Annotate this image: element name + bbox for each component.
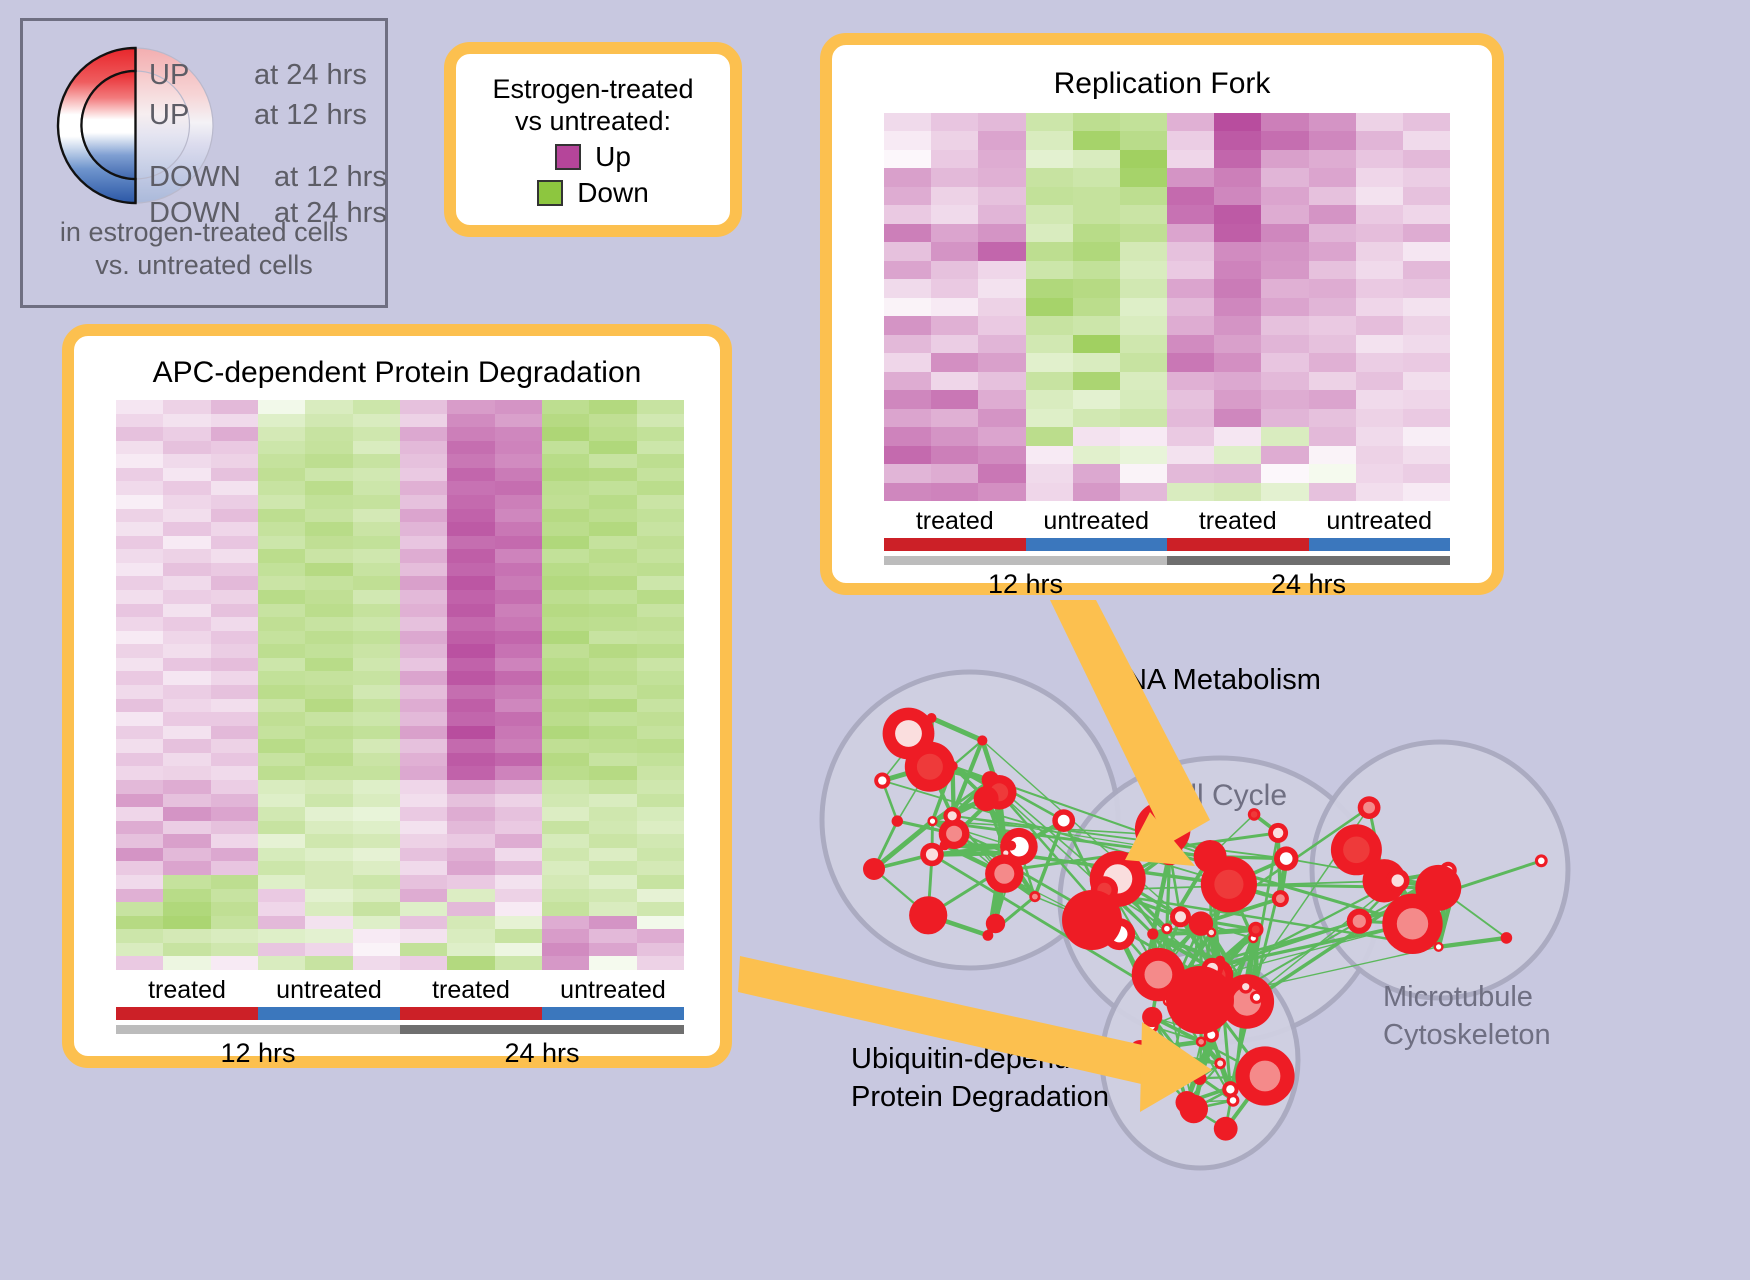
heatmap-cell (1120, 242, 1167, 260)
figure-canvas: UPat 24 hrs UPat 12 hrs DOWNat 12 hrs DO… (0, 0, 1750, 1279)
heatmap-cell (589, 821, 636, 835)
heatmap-cell (495, 712, 542, 726)
network-node[interactable] (1168, 1053, 1180, 1065)
heatmap-cell (637, 753, 684, 767)
network-node[interactable] (985, 855, 1023, 893)
network-node[interactable] (863, 858, 885, 880)
heatmap-cell (211, 875, 258, 889)
heatmap-cell (211, 509, 258, 523)
heatmap-cell (258, 916, 305, 930)
heatmap-cell (116, 604, 163, 618)
heatmap-cell (495, 943, 542, 957)
network-node[interactable] (1161, 923, 1172, 934)
heatmap-cell (116, 699, 163, 713)
heatmap-cell (305, 699, 352, 713)
heatmap-cell (1073, 483, 1120, 501)
axis-time-seg-0 (116, 1025, 400, 1034)
heatmap-cell (211, 427, 258, 441)
heatmap-cell (637, 454, 684, 468)
heatmap-cell (495, 929, 542, 943)
heatmap-cell (637, 929, 684, 943)
heatmap-cell (495, 753, 542, 767)
heatmap-cell (305, 631, 352, 645)
heatmap-cell (447, 916, 494, 930)
heatmap-cell (447, 821, 494, 835)
network-node[interactable] (1272, 890, 1289, 907)
heatmap-cell (1356, 279, 1403, 297)
heatmap-cell (447, 943, 494, 957)
heatmap-cell (211, 617, 258, 631)
network-node[interactable] (1239, 980, 1253, 994)
heatmap-cell (978, 113, 1025, 131)
heatmap-cell (1167, 187, 1214, 205)
heatmap-cell (258, 563, 305, 577)
heatmap-cell (211, 495, 258, 509)
heatmap-cell (305, 685, 352, 699)
heatmap-cell (258, 658, 305, 672)
heatmap-cell (163, 576, 210, 590)
heatmap-cell (163, 563, 210, 577)
heatmap-cell (884, 242, 931, 260)
heatmap-cell (1356, 335, 1403, 353)
network-node[interactable] (940, 840, 950, 850)
heatmap-cell (589, 875, 636, 889)
network-node[interactable] (948, 761, 958, 771)
heatmap-cell (1167, 390, 1214, 408)
heatmap-cell (163, 400, 210, 414)
network-node[interactable] (974, 786, 999, 811)
heatmap-cell (1356, 242, 1403, 260)
heatmap-cell (495, 889, 542, 903)
heatmap-cell (542, 753, 589, 767)
heatmap-cell (258, 875, 305, 889)
heatmap-cell (353, 481, 400, 495)
heatmap-cell (978, 205, 1025, 223)
network-node[interactable] (1006, 841, 1016, 851)
network-node[interactable] (874, 773, 890, 789)
network-node[interactable] (1214, 1117, 1238, 1141)
network-node[interactable] (1250, 991, 1263, 1004)
heatmap-cell (637, 889, 684, 903)
legend-swatch-up-icon (555, 144, 581, 170)
heatmap-cell (447, 536, 494, 550)
heatmap-cell (589, 699, 636, 713)
axis-treatment-bar (884, 538, 1450, 551)
axis-group-2: treated (400, 976, 542, 1005)
network-node[interactable] (1347, 909, 1372, 934)
heatmap-cell (1073, 316, 1120, 334)
axis-time-seg-0 (884, 556, 1167, 565)
legend-item-up: Up (555, 141, 631, 173)
heatmap-cell (258, 481, 305, 495)
heatmap-cell (1356, 131, 1403, 149)
network-node[interactable] (1062, 890, 1122, 950)
network-node[interactable] (1194, 840, 1227, 873)
axis-group-1: untreated (1026, 507, 1168, 536)
heatmap-cell (495, 549, 542, 563)
heatmap-cell (116, 685, 163, 699)
heatmap-cell (1073, 205, 1120, 223)
heatmap-cell (542, 631, 589, 645)
heatmap-cell (637, 658, 684, 672)
heatmap-cell (1073, 242, 1120, 260)
heatmap-cell (116, 780, 163, 794)
heatmap-cell (1214, 168, 1261, 186)
heatmap-cell (116, 807, 163, 821)
heatmap-cell (1120, 335, 1167, 353)
heatmap-cell (400, 454, 447, 468)
network-node[interactable] (1415, 865, 1461, 911)
heatmap-cell (305, 902, 352, 916)
network-node[interactable] (986, 914, 1005, 933)
heatmap-cell (495, 658, 542, 672)
heatmap-cell (884, 261, 931, 279)
heatmap-cell (447, 604, 494, 618)
network-node[interactable] (1193, 1072, 1206, 1085)
axis-treatment-bar (116, 1007, 684, 1020)
network-node[interactable] (1029, 891, 1040, 902)
heatmap-cell (931, 316, 978, 334)
network-node[interactable] (1206, 927, 1216, 937)
heatmap-cell (542, 929, 589, 943)
heatmap-cell (1214, 372, 1261, 390)
heatmap-cell (116, 929, 163, 943)
heatmap-cell (542, 400, 589, 414)
heatmap-cell (258, 400, 305, 414)
heatmap-cell (884, 168, 931, 186)
heatmap-cell (258, 766, 305, 780)
heatmap-cell (1261, 335, 1308, 353)
network-node[interactable] (1274, 846, 1298, 870)
heatmap-cell (163, 549, 210, 563)
heatmap-cell (542, 861, 589, 875)
heatmap-cell (353, 889, 400, 903)
network-node[interactable] (1147, 928, 1158, 939)
network-node[interactable] (1215, 956, 1225, 966)
heatmap-cell (353, 807, 400, 821)
heatmap-cell (542, 644, 589, 658)
heatmap-cell (495, 604, 542, 618)
axis-time-1: 24 hrs (1167, 569, 1450, 600)
heatmap-cell (400, 604, 447, 618)
network-node[interactable] (1166, 966, 1234, 1034)
heatmap-cell (211, 658, 258, 672)
heatmap-cell (353, 685, 400, 699)
heatmap-cell (305, 563, 352, 577)
heatmap-cell (258, 644, 305, 658)
heatmap-cell (637, 875, 684, 889)
heatmap-cell (1403, 279, 1450, 297)
heatmap-cell (495, 400, 542, 414)
network-node[interactable] (1176, 1091, 1199, 1114)
heatmap-cell (542, 889, 589, 903)
heatmap-cell (1167, 483, 1214, 501)
heatmap-cell (258, 604, 305, 618)
heatmap-cell (1120, 316, 1167, 334)
heatmap-cell (978, 335, 1025, 353)
heatmap-cell (353, 400, 400, 414)
network-node[interactable] (1142, 1007, 1162, 1027)
heatmap-cell (353, 658, 400, 672)
heatmap-cell (495, 414, 542, 428)
network-node[interactable] (892, 815, 903, 826)
heatmap-cell (1309, 446, 1356, 464)
heatmap-cell (637, 943, 684, 957)
axis-bar-seg-3 (542, 1007, 684, 1020)
axis-time-bar (884, 556, 1450, 565)
heatmap-cell (1026, 390, 1073, 408)
heatmap-cell (542, 943, 589, 957)
heatmap-cell (163, 929, 210, 943)
heatmap-cell (589, 563, 636, 577)
heatmap-cell (637, 400, 684, 414)
legend-item-down: Down (537, 177, 649, 209)
network-node[interactable] (1434, 942, 1444, 952)
heatmap-cell (495, 495, 542, 509)
axis-time-names: 12 hrs 24 hrs (884, 569, 1450, 600)
heatmap-cell (447, 631, 494, 645)
heatmap-cell (542, 794, 589, 808)
heatmap-cell (1403, 316, 1450, 334)
heatmap-cell (163, 454, 210, 468)
heatmap-cell (1073, 446, 1120, 464)
heatmap-cell (353, 821, 400, 835)
heatmap-cell (931, 224, 978, 242)
heatmap-cell (353, 468, 400, 482)
heatmap-cell (542, 536, 589, 550)
heatmap-cell (1073, 261, 1120, 279)
heatmap-cell (637, 563, 684, 577)
heatmap-cell (1167, 113, 1214, 131)
heatmap-cell (1120, 464, 1167, 482)
heatmap-cell (884, 150, 931, 168)
heatmap-cell (978, 409, 1025, 427)
heatmap-cell (116, 549, 163, 563)
heatmap-cell (353, 617, 400, 631)
heatmap-cell (1403, 187, 1450, 205)
heatmap-cell (447, 889, 494, 903)
heatmap-cell (589, 726, 636, 740)
heatmap-cell (258, 902, 305, 916)
heatmap-cell (353, 522, 400, 536)
heatmap-cell (495, 481, 542, 495)
heatmap-cell (305, 400, 352, 414)
heatmap-cell (258, 848, 305, 862)
heatmap-cell (495, 875, 542, 889)
heatmap-cell (931, 427, 978, 445)
heatmap-cell (447, 454, 494, 468)
heatmap-cell (637, 536, 684, 550)
heatmap-cell (1120, 427, 1167, 445)
heatmap-cell (400, 509, 447, 523)
heatmap-cell (1261, 168, 1308, 186)
network-node[interactable] (1535, 854, 1548, 867)
heatmap-cell (447, 861, 494, 875)
heatmap-cell (495, 956, 542, 970)
heatmap-cell (447, 644, 494, 658)
heatmap-cell (1403, 335, 1450, 353)
heatmap-cell (1403, 224, 1450, 242)
heatmap-cell (1167, 131, 1214, 149)
network-node[interactable] (1501, 932, 1513, 944)
heatmap-cell (1026, 113, 1073, 131)
apc-degradation-heatmap (116, 400, 684, 970)
network-node[interactable] (1248, 922, 1263, 937)
heatmap-cell (116, 889, 163, 903)
heatmap-cell (931, 279, 978, 297)
heatmap-cell (1356, 187, 1403, 205)
heatmap-cell (931, 205, 978, 223)
heatmap-cell (116, 522, 163, 536)
heatmap-cell (400, 834, 447, 848)
heatmap-cell (884, 316, 931, 334)
heatmap-cell (1026, 279, 1073, 297)
heatmap-cell (495, 441, 542, 455)
heatmap-cell (353, 549, 400, 563)
heatmap-cell (978, 483, 1025, 501)
heatmap-cell (495, 617, 542, 631)
heatmap-cell (1214, 131, 1261, 149)
network-node[interactable] (927, 816, 937, 826)
heatmap-cell (495, 671, 542, 685)
heatmap-cell (447, 780, 494, 794)
heatmap-cell (1403, 446, 1450, 464)
heatmap-cell (589, 549, 636, 563)
heatmap-cell (1356, 464, 1403, 482)
heatmap-cell (258, 576, 305, 590)
heatmap-cell (884, 409, 931, 427)
heatmap-cell (542, 726, 589, 740)
heatmap-cell (258, 671, 305, 685)
heatmap-cell (542, 441, 589, 455)
network-node[interactable] (1130, 1040, 1150, 1060)
heatmap-cell (447, 794, 494, 808)
heatmap-cell (116, 943, 163, 957)
heatmap-cell (305, 536, 352, 550)
heatmap-cell (1309, 205, 1356, 223)
heatmap-cell (1026, 464, 1073, 482)
heatmap-cell (1214, 427, 1261, 445)
network-node[interactable] (1146, 828, 1160, 842)
heatmap-cell (163, 848, 210, 862)
network-node[interactable] (1052, 809, 1075, 832)
heatmap-cell (116, 766, 163, 780)
heatmap-cell (589, 658, 636, 672)
heatmap-cell (305, 943, 352, 957)
network-node[interactable] (977, 735, 987, 745)
axis-bar-seg-3 (1309, 538, 1451, 551)
heatmap-cell (1214, 205, 1261, 223)
heatmap-cell (353, 726, 400, 740)
heatmap-cell (1356, 483, 1403, 501)
heatmap-cell (1356, 446, 1403, 464)
heatmap-cell (400, 414, 447, 428)
heatmap-cell (495, 861, 542, 875)
heatmap-cell (400, 861, 447, 875)
heatmap-cell (1309, 372, 1356, 390)
heatmap-cell (542, 604, 589, 618)
network-node[interactable] (1157, 840, 1183, 866)
heatmap-cell (542, 766, 589, 780)
network-node[interactable] (909, 896, 947, 934)
network-node[interactable] (1214, 1058, 1226, 1070)
heatmap-cell (353, 780, 400, 794)
heatmap-cell (1167, 298, 1214, 316)
heatmap-cell (1356, 372, 1403, 390)
heatmap-cell (542, 563, 589, 577)
heatmap-cell (542, 495, 589, 509)
heatmap-cell (1026, 409, 1073, 427)
heatmap-cell (589, 780, 636, 794)
network-node[interactable] (1268, 823, 1288, 843)
heatmap-cell (1403, 427, 1450, 445)
heatmap-cell (542, 576, 589, 590)
heatmap-cell (211, 929, 258, 943)
heatmap-cell (116, 590, 163, 604)
replication-fork-axis: treated untreated treated untreated 12 h… (884, 507, 1450, 600)
heatmap-cell (305, 522, 352, 536)
heatmap-cell (884, 298, 931, 316)
heatmap-cell (305, 956, 352, 970)
heatmap-cell (305, 495, 352, 509)
network-node[interactable] (1222, 1081, 1238, 1097)
heatmap-cell (163, 753, 210, 767)
heatmap-cell (305, 604, 352, 618)
heatmap-cell (447, 956, 494, 970)
legend-title-line2: vs untreated: (492, 106, 693, 137)
heatmap-cell (400, 549, 447, 563)
heatmap-cell (884, 335, 931, 353)
heatmap-cell (884, 483, 931, 501)
heatmap-cell (1261, 224, 1308, 242)
heatmap-cell (305, 481, 352, 495)
heatmap-cell (542, 916, 589, 930)
heatmap-cell (1120, 261, 1167, 279)
axis-group-3: untreated (1309, 507, 1451, 536)
network-node[interactable] (1170, 906, 1191, 927)
axis-group-names: treated untreated treated untreated (884, 507, 1450, 536)
heatmap-cell (163, 631, 210, 645)
heatmap-cell (1073, 372, 1120, 390)
heatmap-cell (495, 427, 542, 441)
heatmap-cell (1120, 113, 1167, 131)
heatmap-cell (447, 441, 494, 455)
network-node[interactable] (943, 807, 961, 825)
heatmap-cell (1073, 131, 1120, 149)
heatmap-cell (1403, 113, 1450, 131)
heatmap-cell (447, 481, 494, 495)
heatmap-cell (1261, 113, 1308, 131)
network-node[interactable] (1386, 869, 1410, 893)
heatmap-cell (1026, 372, 1073, 390)
network-node[interactable] (883, 708, 935, 760)
heatmap-cell (211, 821, 258, 835)
axis-group-1: untreated (258, 976, 400, 1005)
heatmap-cell (884, 464, 931, 482)
heatmap-cell (637, 821, 684, 835)
heatmap-cell (495, 454, 542, 468)
network-node[interactable] (1235, 1046, 1294, 1105)
heatmap-cell (542, 522, 589, 536)
heatmap-cell (1356, 113, 1403, 131)
heatmap-cell (1120, 390, 1167, 408)
heatmap-cell (931, 409, 978, 427)
heatmap-cell (495, 509, 542, 523)
heatmap-cell (400, 726, 447, 740)
network-node[interactable] (1358, 796, 1381, 819)
heatmap-cell (1214, 409, 1261, 427)
heatmap-cell (637, 848, 684, 862)
